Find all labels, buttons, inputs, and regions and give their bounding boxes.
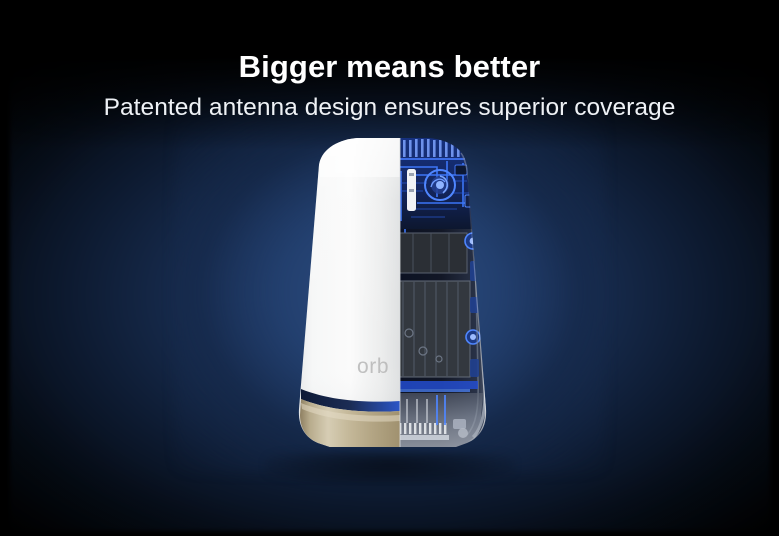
split-seam [399, 137, 401, 452]
page-title: Bigger means better [0, 50, 779, 84]
page-subtitle: Patented antenna design ensures superior… [0, 93, 779, 122]
hero-banner: Bigger means better Patented antenna des… [0, 0, 779, 536]
hero-text-block: Bigger means better Patented antenna des… [0, 50, 779, 122]
product-shadow [265, 452, 515, 486]
top-dome [319, 138, 400, 177]
white-shell [287, 137, 402, 452]
heatsink-upper [395, 233, 467, 273]
product-image-orbi-router [287, 137, 499, 452]
heatsink-lower [392, 281, 470, 377]
